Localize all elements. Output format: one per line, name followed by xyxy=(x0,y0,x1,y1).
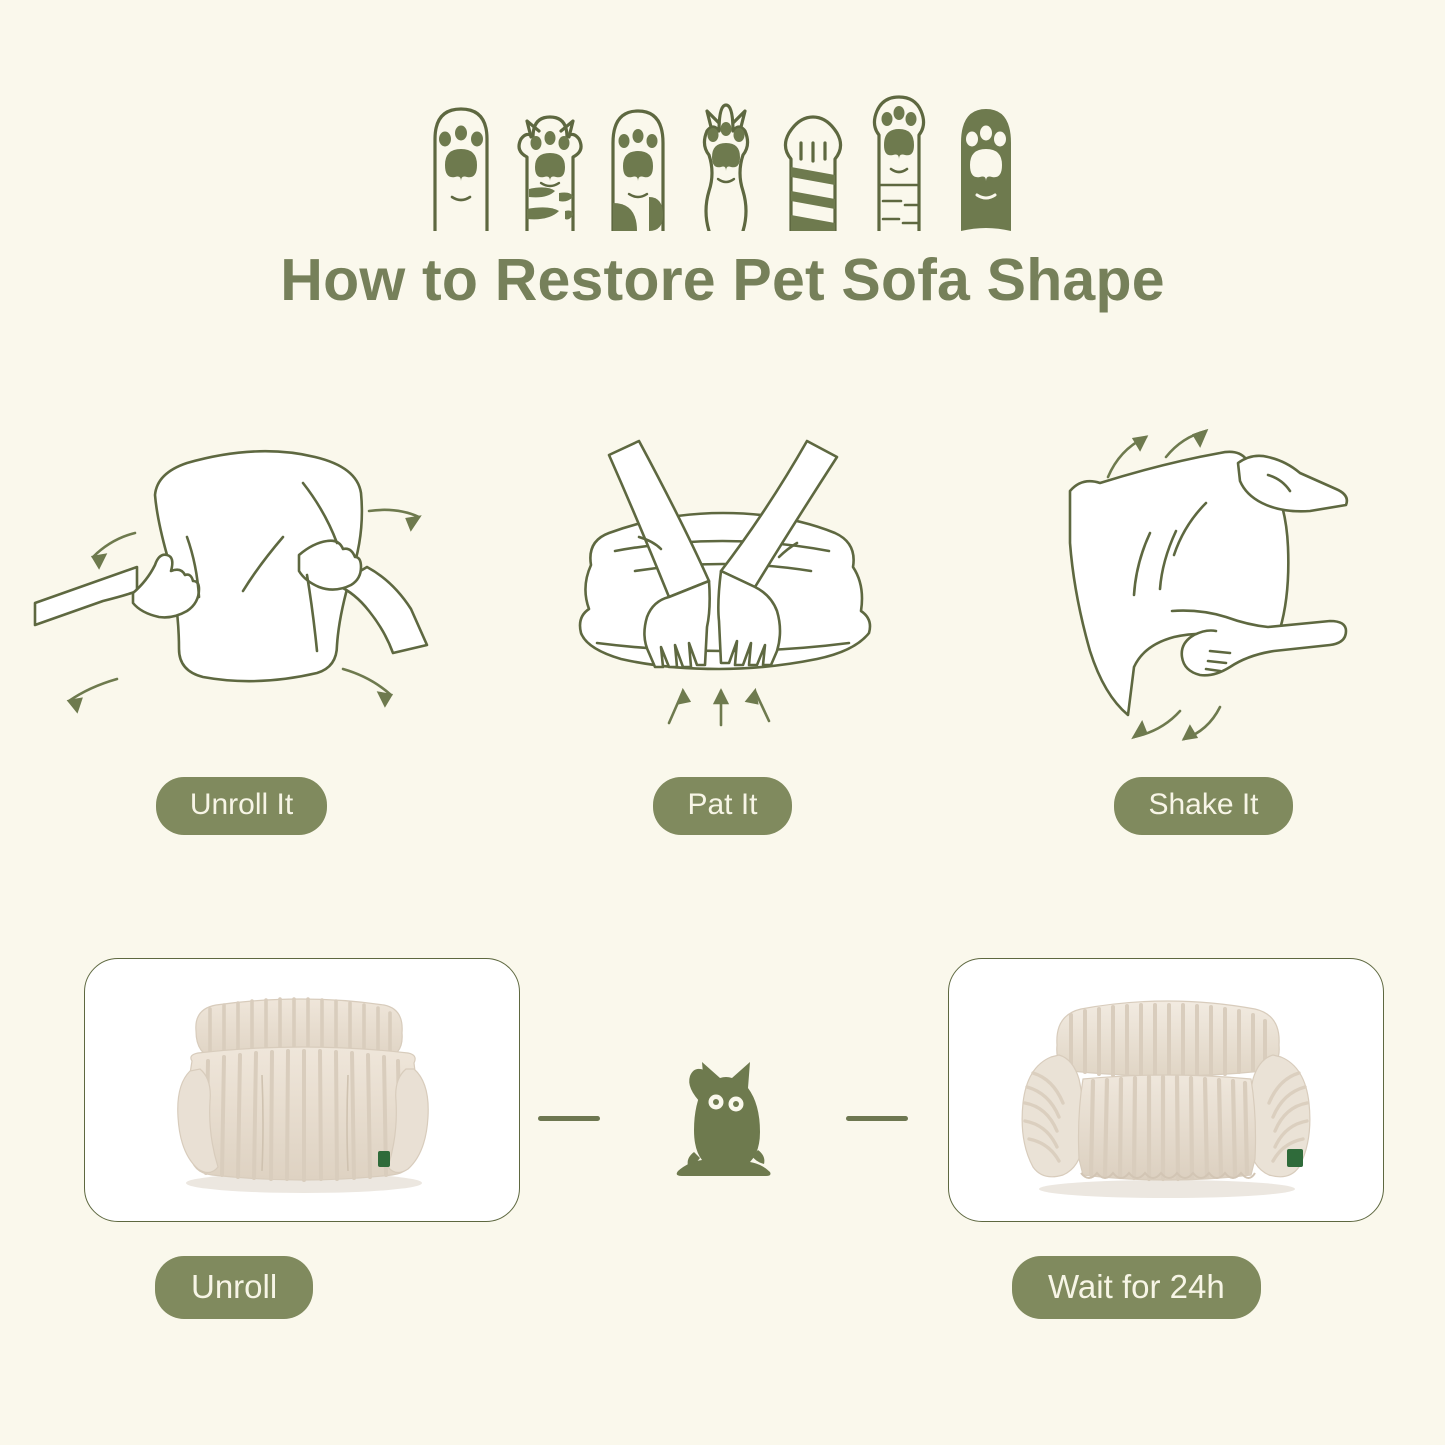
infographic-root: How to Restore Pet Sofa Shape xyxy=(0,0,1445,1445)
step-label-cell-1: Unroll It xyxy=(1,777,482,835)
shake-illustration xyxy=(1024,415,1384,745)
paw-solid-icon xyxy=(945,81,1027,231)
unroll-illustration xyxy=(7,415,477,745)
paw-mitten-stripes-icon xyxy=(773,81,853,231)
paw-half-filled-icon xyxy=(597,81,679,231)
step-label-cell-3: Shake It xyxy=(963,777,1444,835)
instruction-panels xyxy=(0,415,1445,745)
step-panel-pat xyxy=(482,415,963,745)
paw-plain-icon xyxy=(419,81,503,231)
cat-silhouette-icon xyxy=(658,1040,788,1180)
divider-dash-right xyxy=(846,1116,908,1121)
step-label-shake-it: Shake It xyxy=(1114,777,1292,835)
step-label-pat-it: Pat It xyxy=(653,777,791,835)
comparison-label-wait: Wait for 24h xyxy=(1012,1256,1261,1319)
step-label-unroll-it: Unroll It xyxy=(156,777,327,835)
step-panel-unroll xyxy=(1,415,482,745)
step-label-cell-2: Pat It xyxy=(482,777,963,835)
comparison-label-unroll: Unroll xyxy=(155,1256,313,1319)
paw-eared-wavy-icon xyxy=(683,81,769,231)
page-title: How to Restore Pet Sofa Shape xyxy=(0,248,1445,313)
divider-dash-left xyxy=(538,1116,600,1121)
paw-header-row xyxy=(0,66,1445,231)
step-labels-row: Unroll It Pat It Shake It xyxy=(0,778,1445,834)
pat-illustration xyxy=(543,415,903,745)
step-panel-shake xyxy=(963,415,1444,745)
comparison-labels: Unroll Wait for 24h xyxy=(0,1256,1445,1314)
paw-tall-lines-icon xyxy=(857,79,941,231)
paw-horned-spots-icon xyxy=(507,81,593,231)
cat-mascot-divider xyxy=(0,1020,1445,1200)
